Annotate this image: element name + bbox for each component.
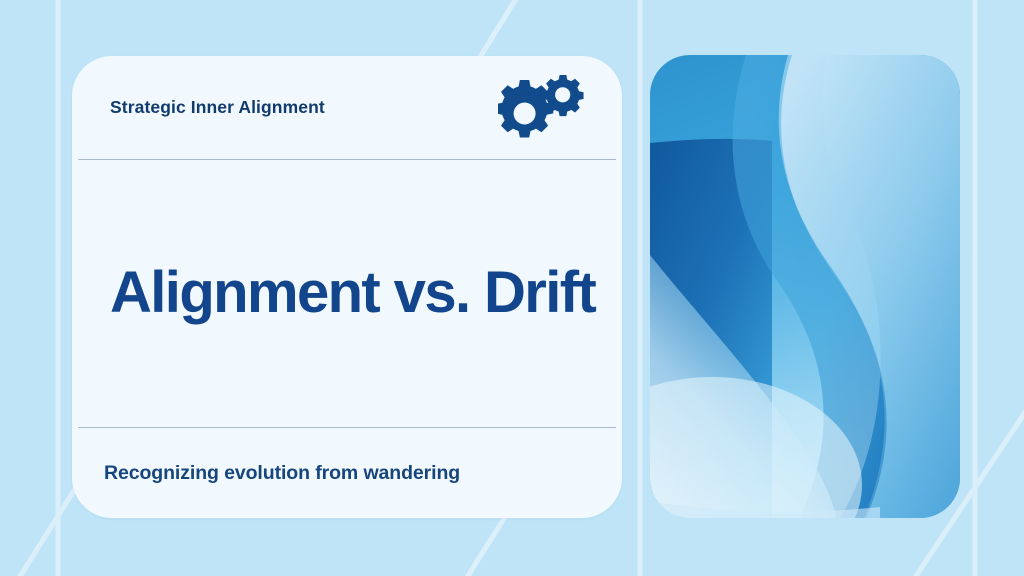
slide-root: Strategic Inner Alignment Alignment vs. …	[0, 0, 1024, 576]
eyebrow-label: Strategic Inner Alignment	[110, 97, 325, 118]
page-title: Alignment vs. Drift	[110, 263, 595, 324]
abstract-wave-graphic	[650, 55, 960, 518]
card-body: Alignment vs. Drift	[78, 160, 616, 428]
card-footer: Recognizing evolution from wandering	[72, 428, 622, 518]
gears-icon	[498, 75, 594, 141]
subtitle-label: Recognizing evolution from wandering	[104, 462, 460, 485]
card-header: Strategic Inner Alignment	[78, 56, 616, 160]
abstract-visual-panel	[650, 55, 960, 518]
info-card: Strategic Inner Alignment Alignment vs. …	[72, 56, 622, 518]
